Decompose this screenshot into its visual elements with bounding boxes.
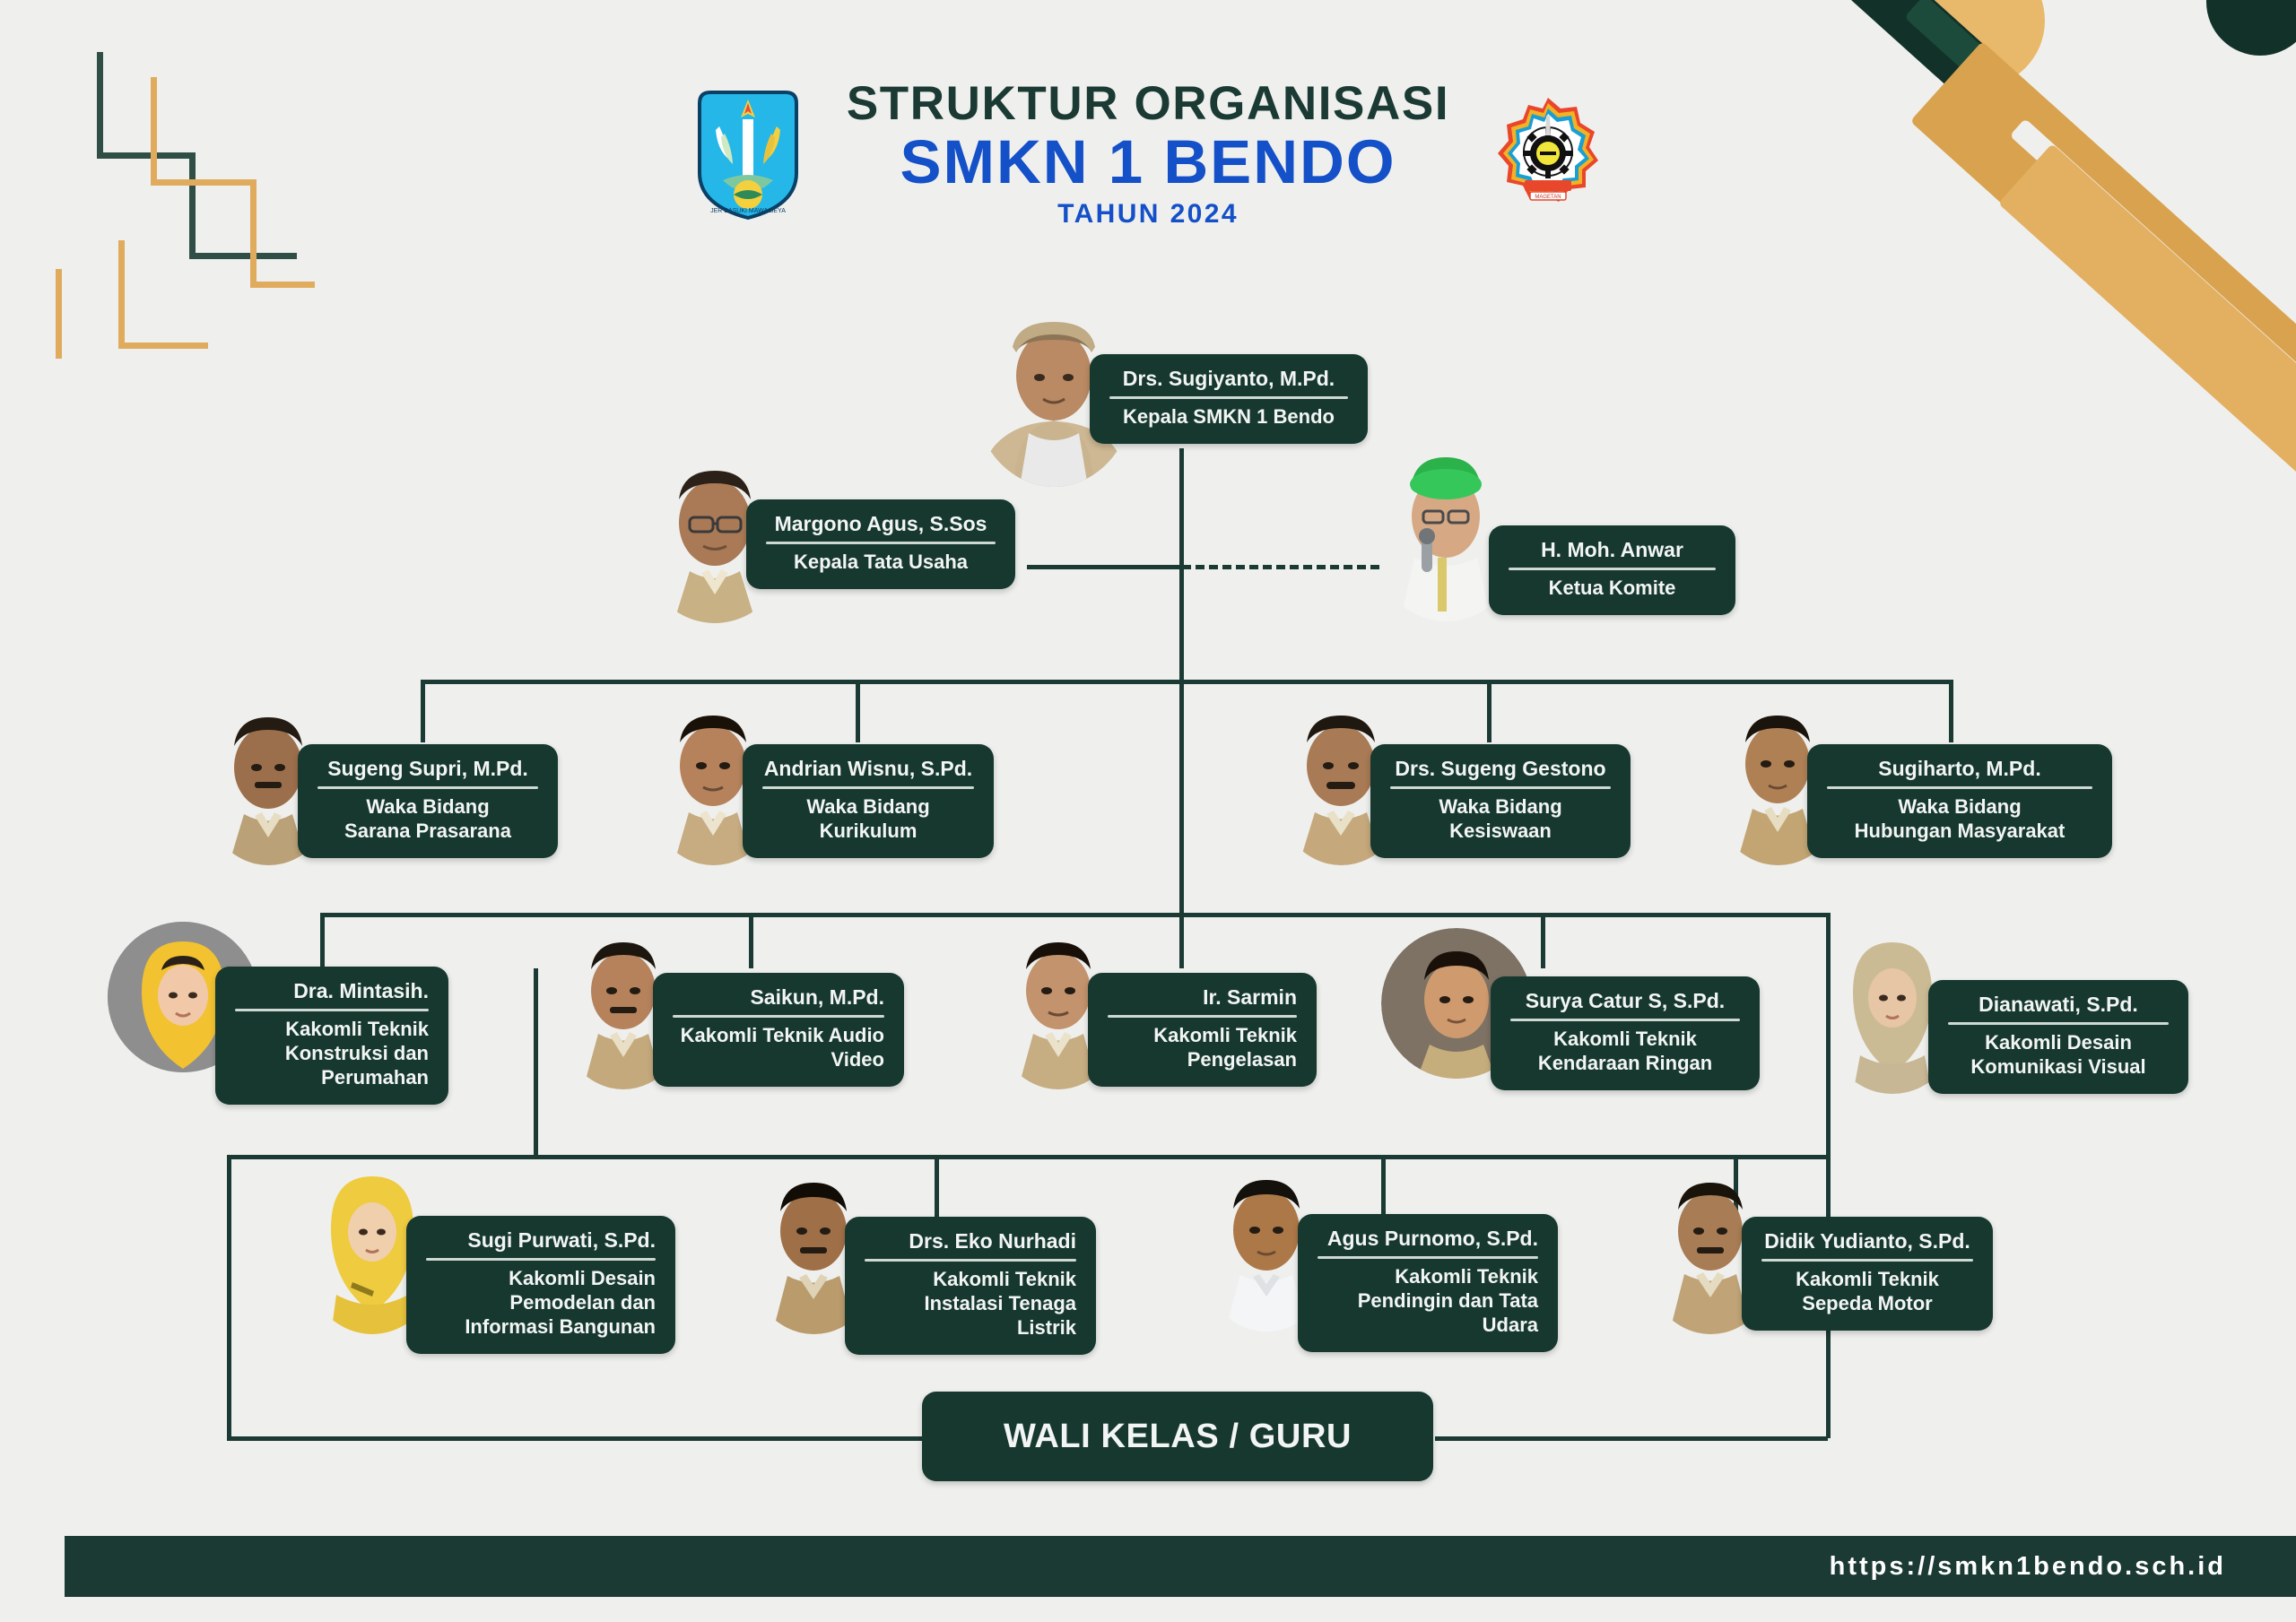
person-role: Kakomli Teknik Konstruksi dan Perumahan [235,1018,429,1089]
connector-kakomli-bus [320,913,1830,917]
person-role-line1: Waka Bidang [1390,795,1611,820]
website-url[interactable]: https://smkn1bendo.sch.id [1830,1552,2226,1582]
name-plate: Andrian Wisnu, S.Pd. Waka Bidang Kurikul… [743,744,994,858]
name-plate: Drs. Sugeng Gestono Waka Bidang Kesiswaa… [1370,744,1631,858]
connector-frame-left-bottom [227,1436,922,1441]
name-plate: Margono Agus, S.Sos Kepala Tata Usaha [746,499,1015,589]
person-name: Sugeng Supri, M.Pd. [317,757,538,780]
wali-kelas-guru-box[interactable]: WALI KELAS / GURU [922,1392,1433,1481]
person-name: H. Moh. Anwar [1509,538,1716,561]
name-plate: Sugeng Supri, M.Pd. Waka Bidang Sarana P… [298,744,558,858]
name-plate: Saikun, M.Pd. Kakomli Teknik Audio Video [653,973,904,1087]
decor-gold-circle [1910,0,2045,88]
svg-text:JER BASUKI MAWA BEYA: JER BASUKI MAWA BEYA [710,208,786,214]
person-role-line2: Sarana Prasarana [317,820,538,844]
person-name: Agus Purnomo, S.Pd. [1318,1227,1538,1250]
person-name: Saikun, M.Pd. [673,985,884,1009]
connector-kakomli-stem-1 [320,913,325,968]
person-name: Surya Catur S, S.Pd. [1510,989,1740,1012]
person-role-line1: Waka Bidang [1827,795,2092,820]
name-plate: Sugiharto, M.Pd. Waka Bidang Hubungan Ma… [1807,744,2112,858]
divider [1109,396,1348,399]
east-java-province-emblem-icon: JER BASUKI MAWA BEYA [689,87,807,221]
page-title-line3: TAHUN 2024 [847,199,1449,230]
connector-frame-left [227,1155,231,1438]
smkn1bendo-school-emblem-icon: MAGETAN [1489,87,1607,221]
connector-principal-to-kakomli [1179,680,1184,931]
wali-kelas-guru-label: WALI KELAS / GURU [1004,1418,1352,1456]
person-name: Didik Yudianto, S.Pd. [1761,1229,1973,1253]
divider [317,786,538,789]
divider [762,786,974,789]
person-role: Kakomli Desain Pemodelan dan Informasi B… [426,1267,656,1339]
divider [1761,1259,1973,1262]
person-name: Margono Agus, S.Sos [766,512,996,535]
person-name: Drs. Sugiyanto, M.Pd. [1109,367,1348,390]
footer-bar: https://smkn1bendo.sch.id [65,1536,2296,1597]
name-plate: Dra. Mintasih. Kakomli Teknik Konstruksi… [215,967,448,1105]
decor-dark-circle [2206,0,2296,56]
connector-kakomli-stem-4 [1541,913,1545,968]
divider [1318,1256,1538,1259]
divider [1509,568,1716,570]
person-role-line2: Kesiswaan [1390,820,1611,844]
person-role: Ketua Komite [1509,577,1716,601]
person-role-line1: Waka Bidang [762,795,974,820]
connector-waka-stem-1 [421,680,425,742]
person-name: Dianawati, S.Pd. [1948,993,2169,1016]
name-plate: Dianawati, S.Pd. Kakomli Desain Komunika… [1928,980,2188,1094]
name-plate: Didik Yudianto, S.Pd. Kakomli Teknik Sep… [1742,1217,1993,1331]
connector-waka-bus [421,680,1953,684]
person-role-line2: Hubungan Masyarakat [1827,820,2092,844]
name-plate: Ir. Sarmin Kakomli Teknik Pengelasan [1088,973,1317,1087]
person-role-line2: Kurikulum [762,820,974,844]
name-plate: Sugi Purwati, S.Pd. Kakomli Desain Pemod… [406,1216,675,1354]
person-role: Kepala Tata Usaha [766,551,996,575]
divider [673,1015,884,1018]
connector-kakomli-stem-5 [1826,913,1831,968]
person-role: Kakomli Teknik Sepeda Motor [1761,1268,1973,1316]
organization-chart-poster: JER BASUKI MAWA BEYA STRUKTUR ORGANISASI… [0,0,2296,1622]
person-name: Sugi Purwati, S.Pd. [426,1228,656,1252]
svg-text:MAGETAN: MAGETAN [1535,195,1561,200]
divider [766,542,996,544]
divider [235,1009,429,1011]
person-role: Kakomli Teknik Audio Video [673,1024,884,1072]
divider [1827,786,2092,789]
connector-frame-right-bottom [1435,1436,1828,1441]
name-plate: Surya Catur S, S.Pd. Kakomli Teknik Kend… [1491,976,1760,1090]
person-name: Andrian Wisnu, S.Pd. [762,757,974,780]
person-role: Kakomli Teknik Instalasi Tenaga Listrik [865,1268,1076,1340]
person-role: Kepala SMKN 1 Bendo [1109,405,1348,429]
person-role: Kakomli Teknik Pendingin dan Tata Udara [1318,1265,1538,1337]
name-plate: H. Moh. Anwar Ketua Komite [1489,525,1735,615]
connector-tu-to-principal [1027,565,1181,569]
page-title-line1: STRUKTUR ORGANISASI [847,79,1449,129]
divider [1390,786,1611,789]
person-name: Drs. Sugeng Gestono [1390,757,1611,780]
connector-kakomli2-bus [227,1155,1829,1159]
connector-komite-dashed [1182,565,1379,569]
name-plate: Drs. Sugiyanto, M.Pd. Kepala SMKN 1 Bend… [1090,354,1368,444]
title-block: STRUKTUR ORGANISASI SMKN 1 BENDO TAHUN 2… [847,79,1449,230]
page-title-line2: SMKN 1 BENDO [847,131,1449,194]
name-plate: Drs. Eko Nurhadi Kakomli Teknik Instalas… [845,1217,1096,1355]
divider [426,1258,656,1261]
connector-waka-stem-4 [1949,680,1953,742]
connector-kakomli2-stem-2 [935,1155,939,1219]
person-role: Kakomli Desain Komunikasi Visual [1948,1031,2169,1080]
person-role: Kakomli Teknik Kendaraan Ringan [1510,1028,1740,1076]
person-name: Ir. Sarmin [1108,985,1297,1009]
person-role: Kakomli Teknik Pengelasan [1108,1024,1297,1072]
divider [1948,1022,2169,1025]
connector-kakomli-stem-2 [749,913,753,968]
person-name: Drs. Eko Nurhadi [865,1229,1076,1253]
divider [1510,1019,1740,1021]
connector-waka-stem-3 [1487,680,1492,742]
divider [1108,1015,1297,1018]
divider [865,1259,1076,1262]
connector-left-wrap [534,968,538,1157]
connector-kakomli2-stem-3 [1381,1155,1386,1219]
connector-kakomli-stem-3 [1179,913,1184,968]
person-name: Dra. Mintasih. [235,979,429,1002]
poster-header: JER BASUKI MAWA BEYA STRUKTUR ORGANISASI… [0,79,2296,230]
name-plate: Agus Purnomo, S.Pd. Kakomli Teknik Pendi… [1298,1214,1558,1352]
connector-waka-stem-2 [856,680,860,742]
person-role-line1: Waka Bidang [317,795,538,820]
person-name: Sugiharto, M.Pd. [1827,757,2092,780]
